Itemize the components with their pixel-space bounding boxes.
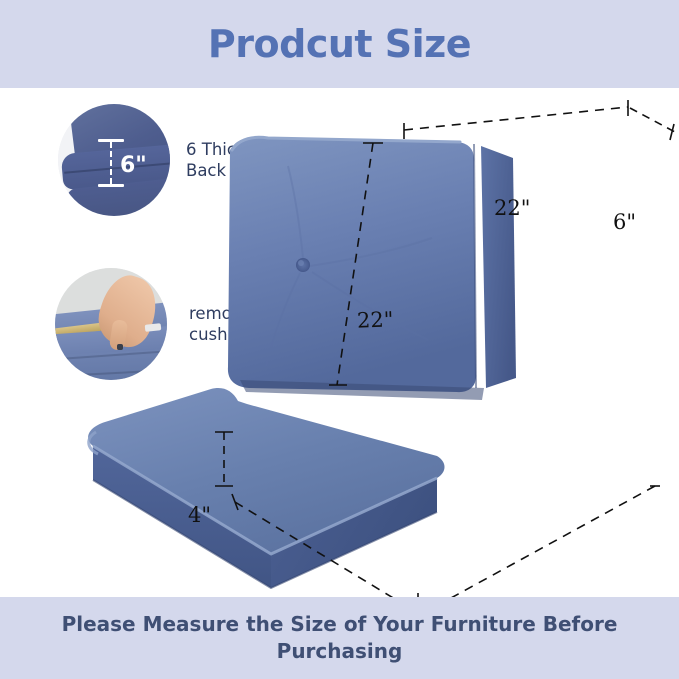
page-title: Prodcut Size — [208, 22, 471, 66]
product-size-infographic: Prodcut Size 6" 6 Thick Back cushion — [0, 0, 679, 679]
dimension-label-back-depth: 6" — [613, 210, 636, 234]
dimension-label-back-height: 22" — [357, 307, 394, 332]
leader-back-width — [404, 107, 628, 130]
dimension-label-seat-thickness: 4" — [188, 503, 211, 527]
leader-seat-width — [420, 486, 655, 597]
footer-band: Please Measure the Size of Your Furnitur… — [0, 597, 679, 679]
header-band: Prodcut Size — [0, 0, 679, 88]
dimension-label-back-width: 22" — [494, 196, 530, 220]
back-cushion-front-face — [228, 137, 476, 392]
back-cushion-side-face — [481, 146, 516, 388]
footer-message: Please Measure the Size of Your Furnitur… — [30, 611, 650, 665]
product-illustration: 22" 6" 22" 4" 22" 24" — [0, 88, 679, 597]
cushion-set-drawing — [0, 88, 679, 597]
tuft-button-highlight — [298, 260, 304, 266]
leader-back-depth — [630, 108, 675, 132]
